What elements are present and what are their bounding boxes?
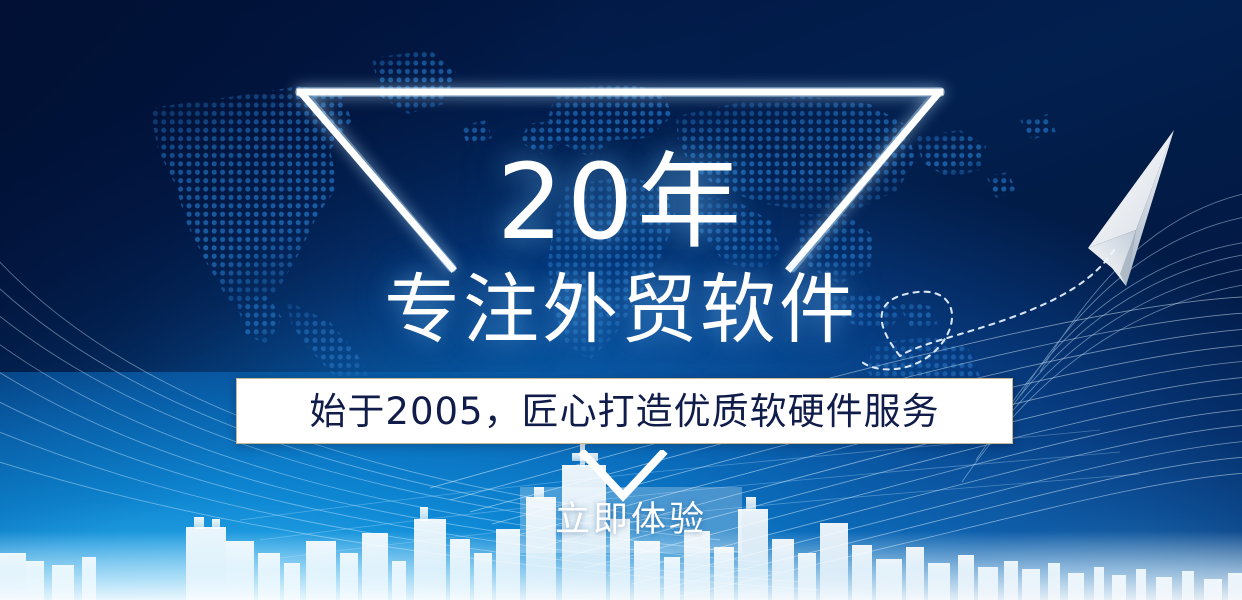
headline-subtitle: 专注外贸软件	[0, 272, 1242, 348]
tagline-text: 始于2005，匠心打造优质软硬件服务	[309, 393, 939, 430]
cta-experience-button[interactable]: 立即体验	[520, 487, 742, 553]
promo-banner: 20年 专注外贸软件 始于2005，匠心打造优质软硬件服务 立即体验	[0, 0, 1242, 600]
cta-button-label: 立即体验	[555, 503, 707, 538]
headline-years: 20年	[0, 150, 1242, 254]
banner-content: 20年 专注外贸软件 始于2005，匠心打造优质软硬件服务 立即体验	[0, 0, 1242, 600]
tagline-bar: 始于2005，匠心打造优质软硬件服务	[236, 378, 1013, 444]
